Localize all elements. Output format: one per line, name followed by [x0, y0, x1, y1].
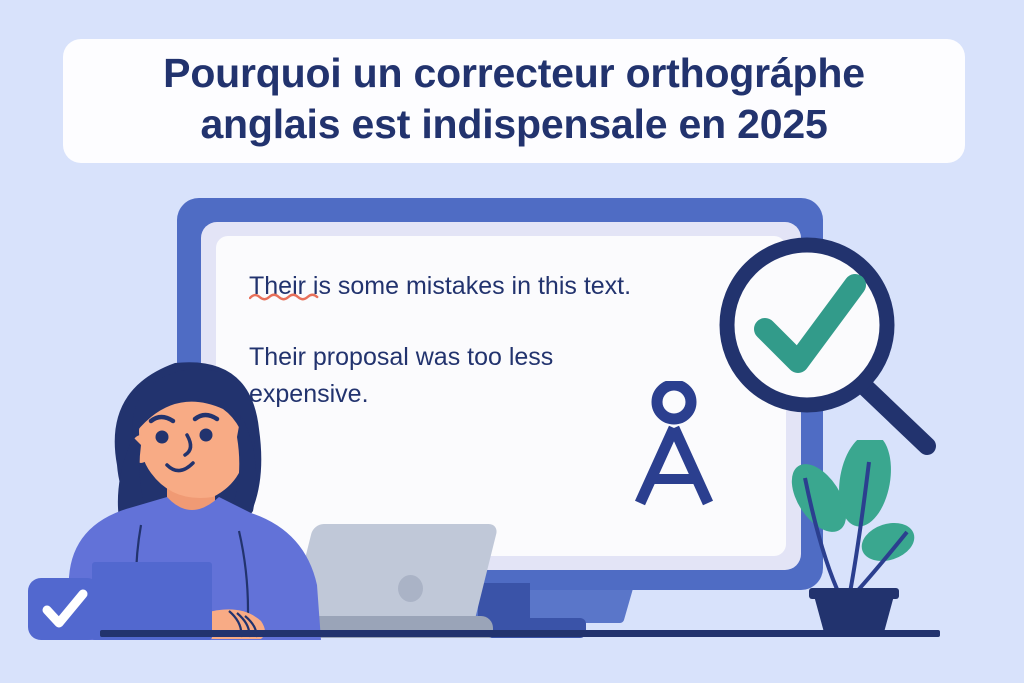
desk-surface-line — [100, 630, 940, 637]
spelling-error-squiggle-icon — [249, 292, 319, 301]
magnifier-check-icon — [715, 235, 947, 465]
laptop-logo — [398, 575, 423, 602]
badge-backing-panel — [92, 562, 212, 640]
title-card: Pourquoi un correcteur orthográphe angla… — [63, 39, 965, 163]
page-title-line-1: Pourquoi un correcteur orthográphe — [163, 48, 865, 99]
page-title-line-2: anglais est indispensale en 2025 — [200, 99, 827, 150]
illustration-canvas: Pourquoi un correcteur orthográphe angla… — [0, 0, 1024, 683]
a-ring-letter-glyph — [629, 381, 719, 506]
status-badge — [28, 578, 100, 640]
check-icon — [28, 578, 100, 640]
potted-plant — [779, 440, 931, 640]
